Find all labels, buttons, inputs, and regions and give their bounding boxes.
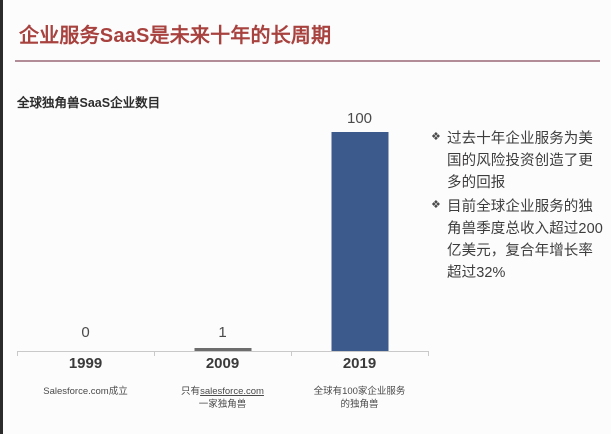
bar-value-2009: 1 — [218, 324, 226, 341]
bullet-item: ❖ 过去十年企业服务为美国的风险投资创造了更多的回报 — [431, 128, 603, 194]
bar-group-1999: 0 — [17, 111, 154, 351]
bullet-item: ❖ 目前全球企业服务的独角兽季度总收入超过200亿美元，复合年增长率超过32% — [431, 196, 603, 284]
diamond-bullet-icon: ❖ — [431, 129, 441, 147]
caption-line: 只有salesforce.com — [154, 385, 291, 399]
x-axis-caption-2009: 只有salesforce.com 一家独角兽 — [154, 385, 291, 413]
x-axis-column-2009: 2009 只有salesforce.com 一家独角兽 — [154, 356, 291, 412]
diamond-bullet-icon: ❖ — [431, 197, 441, 215]
chart-plot-area: 0 1 100 — [17, 112, 429, 352]
caption-line: 全球有100家企业服务 — [291, 385, 428, 399]
x-axis-labels: 1999 Salesforce.com成立 2009 只有salesforce.… — [17, 356, 429, 434]
x-axis-caption-2019: 全球有100家企业服务 的独角兽 — [291, 385, 428, 413]
x-axis-column-2019: 2019 全球有100家企业服务 的独角兽 — [291, 356, 428, 412]
bullet-list: ❖ 过去十年企业服务为美国的风险投资创造了更多的回报 ❖ 目前全球企业服务的独角… — [431, 128, 603, 284]
slide: 企业服务SaaS是未来十年的长周期 全球独角兽SaaS企业数目 0 1 100 — [0, 0, 611, 434]
bar-value-2019: 100 — [347, 110, 372, 127]
x-axis-caption-1999: Salesforce.com成立 — [17, 385, 154, 399]
bar-group-2009: 1 — [154, 111, 291, 351]
caption-link-text: salesforce.com — [200, 386, 264, 397]
bar-group-2019: 100 — [291, 111, 428, 351]
bullet-text: 过去十年企业服务为美国的风险投资创造了更多的回报 — [447, 131, 593, 191]
bullet-text: 目前全球企业服务的独角兽季度总收入超过200亿美元，复合年增长率超过32% — [447, 199, 603, 281]
x-axis-tick-label: 1999 — [17, 356, 154, 373]
caption-line: 的独角兽 — [291, 398, 428, 412]
x-axis-tick-label: 2009 — [154, 356, 291, 373]
caption-line: 一家独角兽 — [154, 398, 291, 412]
bar-value-1999: 0 — [81, 324, 89, 341]
chart-title: 全球独角兽SaaS企业数目 — [17, 92, 160, 111]
x-axis-line — [17, 351, 429, 352]
x-axis-column-1999: 1999 Salesforce.com成立 — [17, 356, 154, 398]
x-axis-tick-label: 2019 — [291, 356, 428, 373]
title-divider — [15, 60, 600, 62]
page-title: 企业服务SaaS是未来十年的长周期 — [19, 19, 331, 48]
bar-2019[interactable] — [331, 132, 388, 351]
bar-chart: 0 1 100 — [17, 112, 429, 354]
caption-line: Salesforce.com成立 — [17, 385, 154, 399]
